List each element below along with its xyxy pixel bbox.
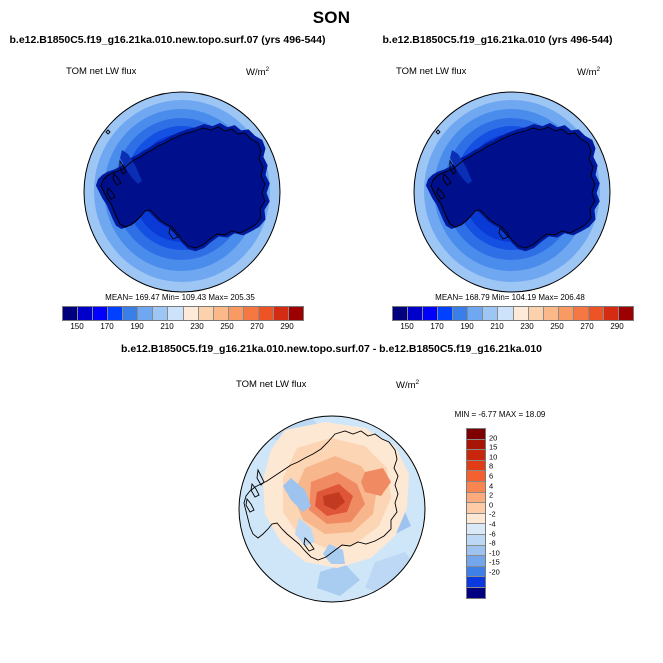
- colorbar-tick-label: 210: [490, 322, 503, 331]
- stats-top-left: MEAN= 169.47 Min= 109.43 Max= 205.35: [55, 293, 305, 302]
- colorbar-tick-label: 270: [250, 322, 263, 331]
- colorbar-swatch: [467, 481, 485, 492]
- colorbar-tick-label: 15: [489, 443, 497, 452]
- colorbar-tick-label: 8: [489, 462, 493, 471]
- colorbar-swatch: [452, 307, 467, 320]
- colorbar-tick-label: 290: [280, 322, 293, 331]
- variable-label-top-left: TOM net LW flux: [66, 66, 136, 77]
- colorbar-tick-label: 6: [489, 472, 493, 481]
- map-fill-top-right: [392, 88, 632, 296]
- colorbar-swatch: [107, 307, 122, 320]
- colorbar-tick-label: -20: [489, 568, 500, 577]
- colorbar-tick-label: 2: [489, 491, 493, 500]
- colorbar-swatch: [467, 545, 485, 556]
- map-top-right: [392, 88, 632, 296]
- colorbar-tick-label: -4: [489, 520, 496, 529]
- colorbar-swatch: [288, 307, 303, 320]
- colorbar-tick-label: 10: [489, 452, 497, 461]
- colorbar-swatch: [482, 307, 497, 320]
- colorbar-swatch: [258, 307, 273, 320]
- colorbar-tick-label: 230: [190, 322, 203, 331]
- variable-label-top-right: TOM net LW flux: [396, 66, 466, 77]
- colorbar-tick-label: 230: [520, 322, 533, 331]
- colorbar-difference[interactable]: [466, 428, 486, 599]
- colorbar-swatch: [152, 307, 167, 320]
- page-title: SON: [0, 8, 663, 28]
- colorbar-swatch: [422, 307, 437, 320]
- colorbar-tick-label: 290: [610, 322, 623, 331]
- colorbar-tick-label: 250: [550, 322, 563, 331]
- colorbar-tick-label: 0: [489, 500, 493, 509]
- colorbar-swatch: [467, 566, 485, 577]
- colorbar-tick-label: 150: [400, 322, 413, 331]
- colorbar-swatch: [467, 307, 482, 320]
- colorbar-swatch: [467, 449, 485, 460]
- colorbar-tick-label: 250: [220, 322, 233, 331]
- map-fill-top-left: [62, 88, 302, 296]
- colorbar-swatch: [228, 307, 243, 320]
- colorbar-tick-label: -10: [489, 548, 500, 557]
- panel-title-top-right: b.e12.B1850C5.f19_g16.21ka.010 (yrs 496-…: [332, 34, 663, 46]
- units-label-top-right: W/m2: [577, 66, 600, 78]
- colorbar-swatch: [543, 307, 558, 320]
- colorbar-swatch: [603, 307, 618, 320]
- colorbar-top-right[interactable]: [392, 306, 634, 321]
- panel-title-difference: b.e12.B1850C5.f19_g16.21ka.010.new.topo.…: [0, 343, 663, 355]
- units-label-top-left: W/m2: [246, 66, 269, 78]
- colorbar-tick-label: 190: [460, 322, 473, 331]
- colorbar-swatch: [167, 307, 182, 320]
- map-difference: [225, 412, 440, 607]
- panel-title-top-left: b.e12.B1850C5.f19_g16.21ka.010.new.topo.…: [0, 34, 335, 46]
- colorbar-top-left[interactable]: [62, 306, 304, 321]
- colorbar-tick-label: -15: [489, 558, 500, 567]
- colorbar-swatch: [558, 307, 573, 320]
- colorbar-swatch: [183, 307, 198, 320]
- units-label-difference: W/m2: [396, 379, 419, 391]
- colorbar-tick-label: 170: [430, 322, 443, 331]
- colorbar-swatch: [63, 307, 77, 320]
- colorbar-swatch: [573, 307, 588, 320]
- figure-canvas: SON b.e12.B1850C5.f19_g16.21ka.010.new.t…: [0, 0, 663, 663]
- colorbar-swatch: [407, 307, 422, 320]
- minmax-difference: MIN = -6.77 MAX = 18.09: [430, 410, 570, 419]
- colorbar-swatch: [467, 576, 485, 587]
- colorbar-swatch: [243, 307, 258, 320]
- colorbar-tick-label: 170: [100, 322, 113, 331]
- colorbar-swatch: [588, 307, 603, 320]
- colorbar-swatch: [467, 470, 485, 481]
- colorbar-ticks-top-right: 150170190210230250270290: [392, 322, 632, 334]
- colorbar-tick-label: -6: [489, 529, 496, 538]
- colorbar-tick-label: 270: [580, 322, 593, 331]
- colorbar-swatch: [467, 534, 485, 545]
- colorbar-swatch: [467, 460, 485, 471]
- colorbar-tick-label: -2: [489, 510, 496, 519]
- colorbar-swatch: [513, 307, 528, 320]
- colorbar-tick-label: 20: [489, 433, 497, 442]
- colorbar-swatch: [618, 307, 633, 320]
- colorbar-swatch: [467, 429, 485, 439]
- colorbar-swatch: [528, 307, 543, 320]
- colorbar-swatch: [467, 587, 485, 598]
- colorbar-swatch: [467, 492, 485, 503]
- map-fill-difference: [239, 412, 425, 602]
- colorbar-tick-label: -8: [489, 539, 496, 548]
- map-top-left: [62, 88, 302, 296]
- colorbar-swatch: [137, 307, 152, 320]
- colorbar-swatch: [467, 439, 485, 450]
- colorbar-swatch: [497, 307, 512, 320]
- stats-top-right: MEAN= 168.79 Min= 104.19 Max= 206.48: [385, 293, 635, 302]
- colorbar-swatch: [393, 307, 407, 320]
- colorbar-tick-label: 210: [160, 322, 173, 331]
- colorbar-tick-label: 4: [489, 481, 493, 490]
- variable-label-difference: TOM net LW flux: [236, 379, 306, 390]
- colorbar-swatch: [122, 307, 137, 320]
- colorbar-swatch: [92, 307, 107, 320]
- colorbar-tick-label: 150: [70, 322, 83, 331]
- colorbar-swatch: [437, 307, 452, 320]
- colorbar-ticks-top-left: 150170190210230250270290: [62, 322, 302, 334]
- colorbar-tick-label: 190: [130, 322, 143, 331]
- colorbar-swatch: [467, 523, 485, 534]
- colorbar-swatch: [467, 513, 485, 524]
- colorbar-swatch: [467, 502, 485, 513]
- colorbar-swatch: [273, 307, 288, 320]
- colorbar-swatch: [213, 307, 228, 320]
- colorbar-swatch: [198, 307, 213, 320]
- colorbar-swatch: [77, 307, 92, 320]
- colorbar-swatch: [467, 555, 485, 566]
